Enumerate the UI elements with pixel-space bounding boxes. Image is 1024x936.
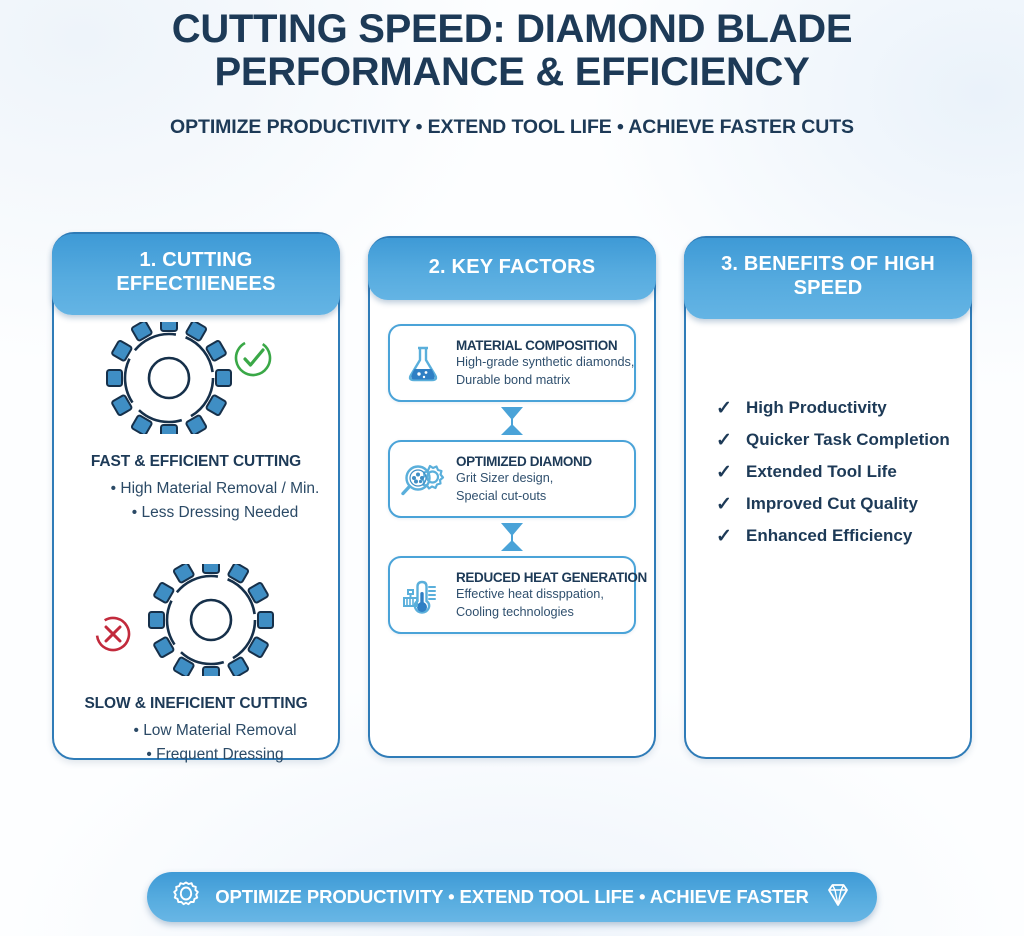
- magnifier-gear-icon: [398, 454, 448, 504]
- connector-arrow-2: [388, 518, 636, 556]
- block-slow-bullets: Low Material Removal Frequent Dressing: [54, 719, 338, 766]
- factor-detail-line-2: Cooling technologies: [456, 604, 626, 620]
- list-item: High Material Removal / Min.: [92, 477, 338, 501]
- factor-text-material-composition: Material Composition High-grade syntheti…: [456, 338, 626, 387]
- columns-container: Fast & Efficient Cutting High Material R…: [0, 232, 1024, 760]
- list-item: ✓ High Productivity: [716, 398, 970, 418]
- column-2-card: Material Composition High-grade syntheti…: [368, 236, 656, 758]
- factor-detail-line-1: Effective heat dissppation,: [456, 586, 626, 602]
- benefit-label: Improved Cut Quality: [746, 494, 918, 514]
- factor-detail-line-1: High-grade synthetic diamonds,: [456, 354, 626, 370]
- column-1-card: Fast & Efficient Cutting High Material R…: [52, 232, 340, 760]
- benefit-label: High Productivity: [746, 398, 887, 418]
- column-3-body: ✓ High Productivity ✓ Quicker Task Compl…: [686, 238, 970, 546]
- footer-text: Optimize Productivity • Extend Tool Life…: [201, 886, 823, 908]
- factor-text-optimized-diamond: Optimized Diamond Grit Sizer design, Spe…: [456, 454, 626, 503]
- check-icon: ✓: [716, 527, 735, 546]
- factor-heading: Reduced Heat Generation: [456, 570, 626, 585]
- factor-detail-line-2: Special cut-outs: [456, 488, 626, 504]
- check-icon: ✓: [716, 431, 735, 450]
- block-fast-efficient: Fast & Efficient Cutting High Material R…: [54, 234, 338, 524]
- check-icon: ✓: [716, 495, 735, 514]
- blade-wheel-bad-icon: [81, 564, 311, 676]
- list-item: Frequent Dressing: [92, 743, 338, 767]
- block-fast-bullets: High Material Removal / Min. Less Dressi…: [54, 477, 338, 524]
- benefit-label: Quicker Task Completion: [746, 430, 950, 450]
- column-3-card: ✓ High Productivity ✓ Quicker Task Compl…: [684, 236, 972, 759]
- gear-icon: [171, 880, 201, 915]
- block-slow-inefficient: Slow & Ineficient Cutting Low Material R…: [54, 524, 338, 766]
- factor-detail-line-2: Durable bond matrix: [456, 372, 626, 388]
- check-icon: ✓: [716, 399, 735, 418]
- footer-banner: Optimize Productivity • Extend Tool Life…: [147, 872, 877, 922]
- factor-heading: Optimized Diamond: [456, 454, 626, 469]
- factor-heading: Material Composition: [456, 338, 626, 353]
- list-item: ✓ Quicker Task Completion: [716, 430, 970, 450]
- blade-wheel-good-icon: [81, 322, 311, 434]
- red-cross-circle-icon: [91, 612, 135, 656]
- block-slow-title: Slow & Ineficient Cutting: [54, 695, 338, 713]
- column-benefits: ✓ High Productivity ✓ Quicker Task Compl…: [684, 232, 972, 760]
- flask-icon: [398, 338, 448, 388]
- list-item: Less Dressing Needed: [92, 501, 338, 525]
- check-icon: ✓: [716, 463, 735, 482]
- page-title-line-2: Performance & Efficiency: [70, 51, 954, 94]
- list-item: ✓ Improved Cut Quality: [716, 494, 970, 514]
- benefit-label: Extended Tool Life: [746, 462, 897, 482]
- list-item: ✓ Extended Tool Life: [716, 462, 970, 482]
- factor-card-optimized-diamond: Optimized Diamond Grit Sizer design, Spe…: [388, 440, 636, 518]
- benefit-label: Enhanced Efficiency: [746, 526, 912, 546]
- green-check-circle-icon: [229, 334, 276, 381]
- page-header: Cutting Speed: Diamond Blade Performance…: [0, 0, 1024, 139]
- factor-card-material-composition: Material Composition High-grade syntheti…: [388, 324, 636, 402]
- factor-text-reduced-heat: Reduced Heat Generation Effective heat d…: [456, 570, 626, 619]
- list-item: Low Material Removal: [92, 719, 338, 743]
- column-cutting-effectiveness: Fast & Efficient Cutting High Material R…: [52, 232, 340, 760]
- block-fast-title: Fast & Efficient Cutting: [54, 453, 338, 471]
- list-item: ✓ Enhanced Efficiency: [716, 526, 970, 546]
- page-title-line-1: Cutting Speed: Diamond Blade: [70, 8, 954, 51]
- column-2-body: Material Composition High-grade syntheti…: [370, 238, 654, 634]
- column-key-factors: Material Composition High-grade syntheti…: [368, 232, 656, 760]
- connector-arrow-1: [388, 402, 636, 440]
- thermometer-icon: [398, 570, 448, 620]
- page-title: Cutting Speed: Diamond Blade Performance…: [70, 8, 954, 94]
- page-subtitle: Optimize Productivity • Extend Tool Life…: [0, 116, 1024, 139]
- factor-card-reduced-heat: Reduced Heat Generation Effective heat d…: [388, 556, 636, 634]
- column-1-body: Fast & Efficient Cutting High Material R…: [54, 234, 338, 766]
- factor-detail-line-1: Grit Sizer design,: [456, 470, 626, 486]
- diamond-icon: [823, 880, 853, 915]
